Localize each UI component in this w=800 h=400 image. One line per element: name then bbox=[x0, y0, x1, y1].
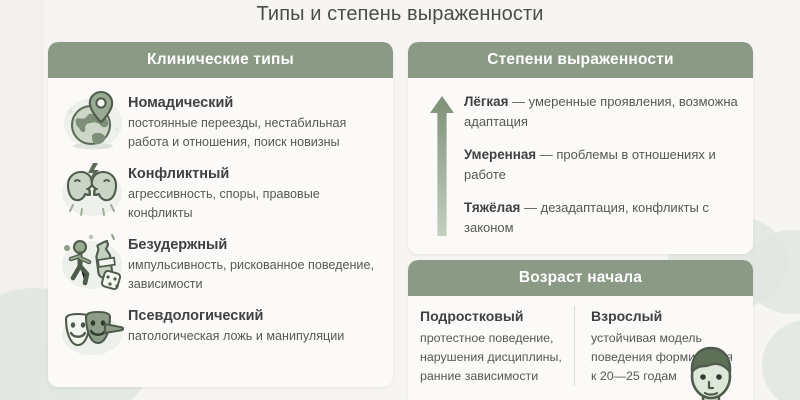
severity-dash: — bbox=[536, 147, 556, 162]
list-item-title: Безудержный bbox=[128, 236, 383, 255]
list-item[interactable]: Номадический постоянные переезды, нестаб… bbox=[48, 84, 393, 155]
list-item[interactable]: Тяжёлая — дезадаптация, конфликты с зако… bbox=[464, 198, 745, 238]
severity-level: Тяжёлая bbox=[464, 200, 520, 215]
clinical-types-card: Клинические типы Номадический bbox=[48, 42, 393, 387]
list-item[interactable]: Безудержный импульсивность, рискованное … bbox=[48, 226, 393, 297]
severity-line: Лёгкая — умеренные проявления, возможна … bbox=[464, 92, 745, 132]
severity-list: Лёгкая — умеренные проявления, возможна … bbox=[464, 90, 745, 238]
age-of-onset-header: Возраст начала bbox=[408, 260, 753, 296]
list-item[interactable]: Умеренная — проблемы в отношениях и рабо… bbox=[464, 145, 745, 185]
severity-body: Лёгкая — умеренные проявления, возможна … bbox=[408, 78, 753, 246]
list-item-description: агрессивность, споры, правовые конфликты bbox=[128, 185, 383, 222]
severity-dash: — bbox=[508, 94, 528, 109]
list-item-title: Номадический bbox=[128, 94, 383, 113]
severity-level: Умеренная bbox=[464, 147, 536, 162]
list-item-title: Конфликтный bbox=[128, 165, 383, 184]
severity-header: Степени выраженности bbox=[408, 42, 753, 78]
severity-line: Тяжёлая — дезадаптация, конфликты с зако… bbox=[464, 198, 745, 238]
background-band-left bbox=[0, 0, 44, 400]
list-item-text: Безудержный импульсивность, рискованное … bbox=[128, 229, 383, 293]
age-column-title: Подростковый bbox=[420, 306, 564, 327]
list-item[interactable]: Конфликтный агрессивность, споры, правов… bbox=[48, 155, 393, 226]
up-arrow-icon bbox=[420, 90, 464, 238]
list-item[interactable]: Лёгкая — умеренные проявления, возможна … bbox=[464, 92, 745, 132]
list-item-title: Псевдологический bbox=[128, 307, 383, 326]
age-column-description: протестное поведение, нарушения дисципли… bbox=[420, 329, 564, 386]
age-column-adult[interactable]: Взрослый устойчивая модель поведения фор… bbox=[574, 306, 745, 386]
clinical-types-list: Номадический постоянные переезды, нестаб… bbox=[48, 78, 393, 368]
list-item-text: Псевдологический патологическая ложь и м… bbox=[128, 300, 383, 346]
age-of-onset-card: Возраст начала Подростковый протестное п… bbox=[408, 260, 753, 400]
two-heads-arguing-icon bbox=[56, 158, 128, 224]
severity-dash: — bbox=[520, 200, 540, 215]
theatre-masks-pinocchio-icon bbox=[56, 300, 128, 366]
severity-card: Степени выраженности Лёгкая — умеренные … bbox=[408, 42, 753, 254]
page-title: Типы и степень выраженности bbox=[0, 3, 800, 26]
list-item-description: импульсивность, рискованное поведение, з… bbox=[128, 256, 383, 293]
list-item-description: патологическая ложь и манипуляции bbox=[128, 327, 383, 346]
list-item[interactable]: Псевдологический патологическая ложь и м… bbox=[48, 297, 393, 368]
severity-level: Лёгкая bbox=[464, 94, 508, 109]
globe-location-pin-icon bbox=[56, 87, 128, 153]
list-item-text: Конфликтный агрессивность, споры, правов… bbox=[128, 158, 383, 222]
background-cloud-far-right bbox=[762, 320, 800, 400]
age-column-title: Взрослый bbox=[591, 306, 735, 327]
age-column-description: устойчивая модель поведения формируется … bbox=[591, 329, 735, 386]
list-item-text: Номадический постоянные переезды, нестаб… bbox=[128, 87, 383, 151]
age-of-onset-body: Подростковый протестное поведение, наруш… bbox=[408, 296, 753, 386]
list-item-description: постоянные переезды, нестабильная работа… bbox=[128, 114, 383, 151]
running-man-bottle-dice-icon bbox=[56, 229, 128, 295]
severity-line: Умеренная — проблемы в отношениях и рабо… bbox=[464, 145, 745, 185]
age-column-adolescent[interactable]: Подростковый протестное поведение, наруш… bbox=[420, 306, 574, 386]
clinical-types-header: Клинические типы bbox=[48, 42, 393, 78]
